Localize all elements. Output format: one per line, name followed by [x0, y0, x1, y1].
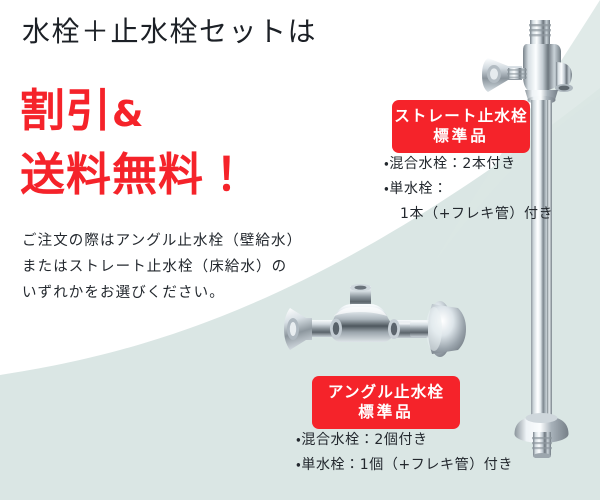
spec-item: ・混合水栓：2本付き [384, 152, 553, 177]
spec-item: ・単水栓：1個（+フレキ管）付き [296, 453, 513, 478]
badge-angle-line-2: 標準品 [312, 402, 460, 422]
spec-item: 1本（+フレキ管）付き [384, 202, 553, 227]
description-block: ご注文の際はアングル止水栓（壁給水） またはストレート止水栓（床給水）の いずれ… [22, 228, 302, 306]
badge-straight-stop-valve: ストレート止水栓 標準品 [392, 100, 530, 153]
badge-straight-line-2: 標準品 [392, 126, 530, 146]
description-line-3: いずれかをお選びください。 [22, 280, 302, 306]
promo-discount-line: 割引& [20, 88, 143, 133]
straight-stop-valve-photo [468, 18, 588, 458]
promo-banner: 水栓＋止水栓セットは 割引& 送料無料！ ご注文の際はアングル止水栓（壁給水） … [0, 0, 600, 500]
promo-free-shipping-line: 送料無料！ [20, 152, 250, 197]
badge-angle-stop-valve: アングル止水栓 標準品 [312, 376, 460, 429]
specs-angle-stop-valve: ・混合水栓：2個付き ・単水栓：1個（+フレキ管）付き [296, 428, 513, 478]
spec-item: ・単水栓： [384, 177, 553, 202]
description-line-1: ご注文の際はアングル止水栓（壁給水） [22, 228, 302, 254]
badge-straight-line-1: ストレート止水栓 [392, 106, 530, 126]
specs-straight-stop-valve: ・混合水栓：2本付き ・単水栓： 1本（+フレキ管）付き [384, 152, 553, 227]
badge-angle-line-1: アングル止水栓 [312, 382, 460, 402]
page-title: 水栓＋止水栓セットは [22, 17, 317, 48]
angle-stop-valve-photo [282, 284, 476, 374]
description-line-2: またはストレート止水栓（床給水）の [22, 254, 302, 280]
promo-ampersand: & [112, 94, 143, 135]
promo-discount-text: 割引 [20, 84, 112, 137]
spec-item: ・混合水栓：2個付き [296, 428, 513, 453]
